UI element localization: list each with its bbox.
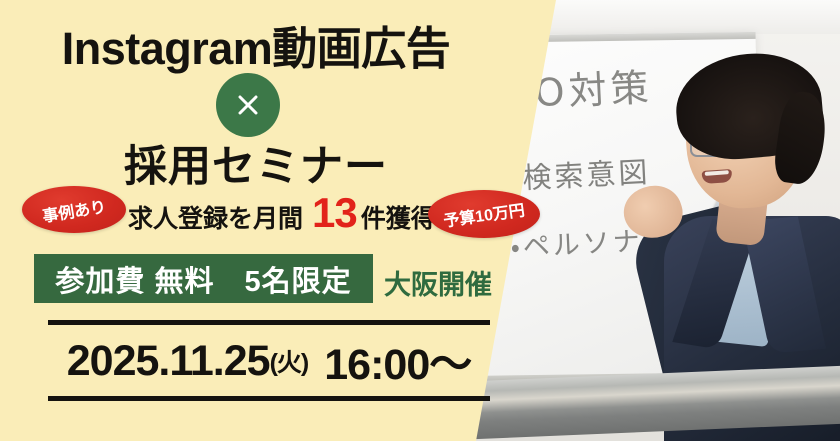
badge-case-study-label: 事例あり (41, 193, 108, 227)
banner-content: Instagram動画広告 採用セミナー 事例あり 求人登録を月間 13 件獲得… (0, 0, 560, 441)
admission-bar-label: 参加費 無料 5名限定 (55, 258, 351, 300)
admission-bar: 参加費 無料 5名限定 (34, 254, 373, 303)
kpi-number: 13 (303, 192, 361, 234)
event-datetime: 2025.11.25 (火) 16:00〜 (48, 331, 490, 391)
event-day-of-week: (火) (270, 343, 309, 379)
event-time: 16:00〜 (308, 330, 471, 392)
multiply-icon (235, 92, 261, 118)
badge-budget-label: 予算10万円 (442, 196, 526, 231)
divider-bottom (48, 396, 490, 401)
page-subtitle: 採用セミナー (0, 132, 512, 194)
kpi-statement: 求人登録を月間 13 件獲得 (128, 192, 436, 232)
badge-case-study: 事例あり (22, 186, 126, 233)
divider-top (48, 320, 490, 325)
cross-badge (216, 73, 280, 137)
event-date: 2025.11.25 (67, 337, 270, 386)
badge-budget: 予算10万円 (428, 190, 540, 238)
venue-label: 大阪開催 (384, 263, 492, 302)
page-title: Instagram動画広告 (0, 12, 512, 77)
seminar-banner: SEO対策 ・検索意図 ・ペルソナ (0, 0, 840, 441)
kpi-prefix: 求人登録を月間 (128, 199, 303, 235)
kpi-suffix: 件獲得 (361, 199, 436, 235)
